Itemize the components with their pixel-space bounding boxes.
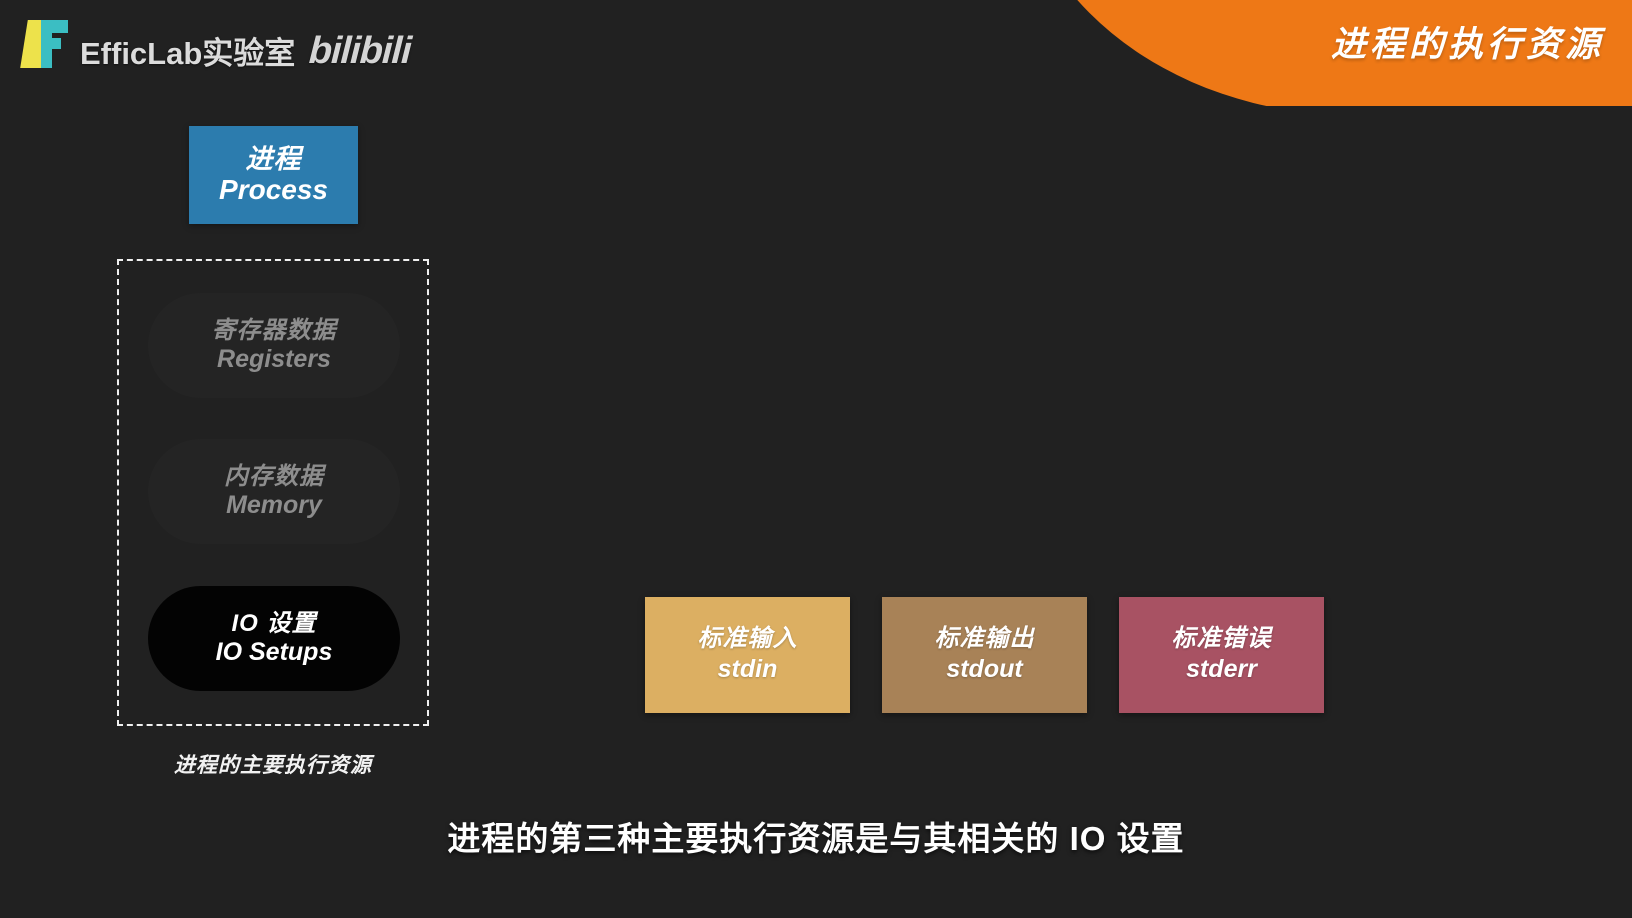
process-box-label-cn: 进程 — [246, 144, 302, 174]
io-box-stderr: 标准错误 stderr — [1119, 597, 1324, 713]
resource-pill-registers-label-cn: 寄存器数据 — [212, 317, 337, 345]
process-box-label-en: Process — [219, 174, 328, 205]
resource-pill-memory-label-cn: 内存数据 — [224, 463, 324, 491]
io-box-stdout-label-cn: 标准输出 — [935, 625, 1035, 654]
bilibili-wordmark: bilibili — [308, 32, 412, 70]
io-box-stderr-label-cn: 标准错误 — [1172, 625, 1272, 654]
io-box-stderr-label-en: stderr — [1186, 654, 1257, 685]
io-box-stdout-label-en: stdout — [946, 654, 1022, 685]
io-box-stdin-label-cn: 标准输入 — [698, 625, 798, 654]
brand-logo: EfficLab实验室 bilibili — [24, 18, 411, 70]
resource-pill-registers: 寄存器数据 Registers — [148, 293, 400, 398]
resource-pill-memory-label-en: Memory — [226, 491, 322, 521]
io-box-stdin-label-en: stdin — [718, 654, 778, 685]
resource-pill-io-setups-label-en: IO Setups — [216, 638, 333, 668]
banner-title: 进程的执行资源 — [1331, 16, 1604, 67]
resource-group-container: 寄存器数据 Registers 内存数据 Memory IO 设置 IO Set… — [117, 259, 429, 726]
resource-pill-memory: 内存数据 Memory — [148, 439, 400, 544]
resource-pill-io-setups-label-cn: IO 设置 — [231, 610, 316, 638]
resource-pill-registers-label-en: Registers — [217, 345, 331, 375]
process-box: 进程 Process — [189, 126, 358, 224]
subtitle-caption: 进程的第三种主要执行资源是与其相关的 IO 设置 — [0, 812, 1632, 860]
io-box-stdin: 标准输入 stdin — [645, 597, 850, 713]
logo-mark-teal-mid — [41, 38, 61, 49]
resource-group-caption: 进程的主要执行资源 — [117, 749, 429, 779]
resource-pill-io-setups: IO 设置 IO Setups — [148, 586, 400, 691]
io-box-stdout: 标准输出 stdout — [882, 597, 1087, 713]
efficlab-e-mark-icon — [24, 18, 70, 70]
slide-canvas: 进程的执行资源 EfficLab实验室 bilibili 进程 Process … — [0, 0, 1632, 918]
brand-name: EfficLab实验室 — [80, 38, 295, 70]
